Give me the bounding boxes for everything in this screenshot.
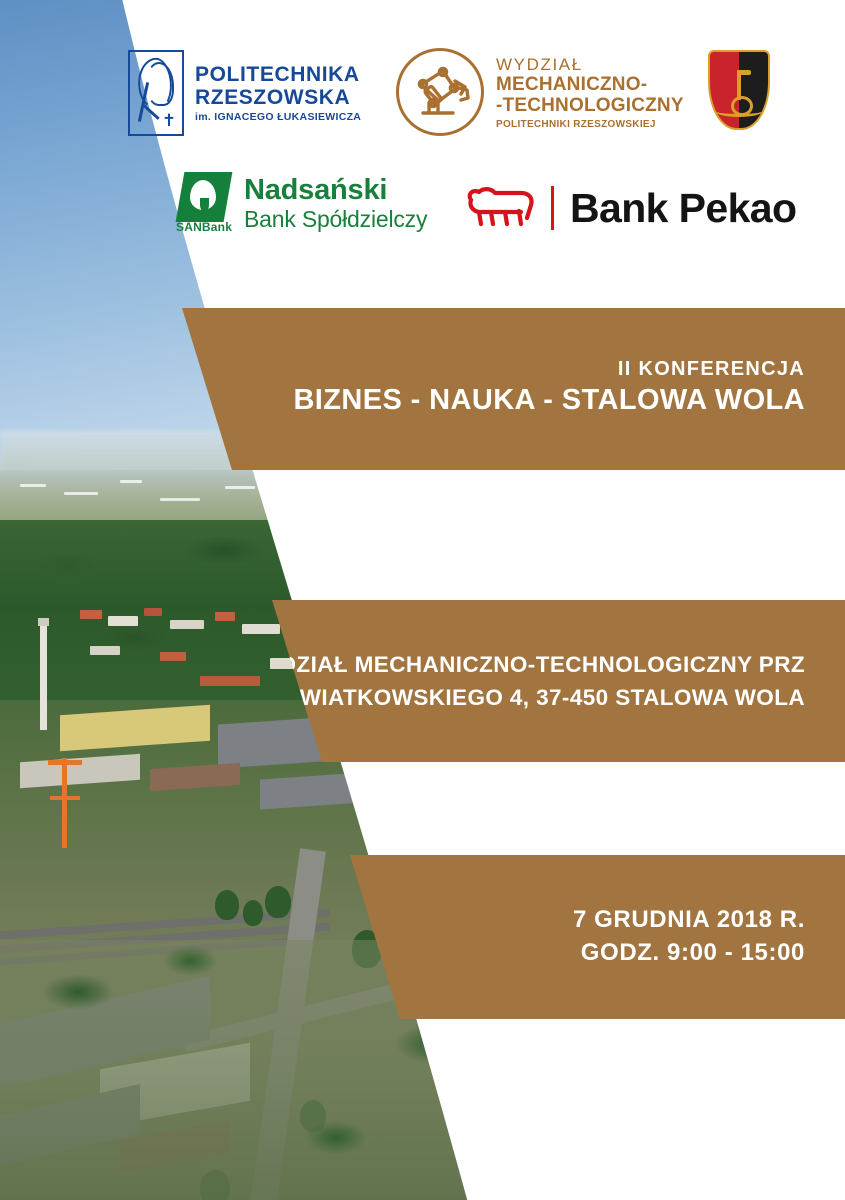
pekao-wordmark: Bank Pekao — [570, 186, 796, 230]
logo-bank-pekao: Bank Pekao — [461, 184, 796, 232]
date-line1: 7 GRUDNIA 2018 R. — [573, 903, 805, 936]
wydzial-line3: -TECHNOLOGICZNY — [496, 95, 684, 116]
wydzial-line2: MECHANICZNO- — [496, 74, 684, 95]
date-line2: GODZ. 9:00 - 15:00 — [573, 936, 805, 969]
politechnika-line2: RZESZOWSKA — [195, 86, 361, 109]
wydzial-line1: WYDZIAŁ — [496, 55, 684, 74]
nadsanski-line2: Bank Spółdzielczy — [244, 206, 427, 232]
nadsanski-line1: Nadsański — [244, 175, 427, 206]
pekao-divider — [551, 186, 554, 230]
sanbank-apple-icon: SANBank — [176, 172, 232, 234]
politechnika-monogram-icon: ✝ — [128, 50, 184, 136]
wydzial-line4: POLITECHNIKI RZESZOWSKIEJ — [496, 119, 684, 130]
robotic-arm-icon — [396, 48, 484, 136]
cross-icon: ✝ — [161, 113, 177, 129]
conference-headline: BIZNES - NAUKA - STALOWA WOLA — [293, 382, 805, 418]
venue-line2: UL. KWIATKOWSKIEGO 4, 37-450 STALOWA WOL… — [239, 681, 805, 714]
bison-icon — [461, 184, 539, 232]
venue-line1: WYDZIAŁ MECHANICZNO-TECHNOLOGICZNY PRZ — [239, 648, 805, 681]
conference-poster: ✝ POLITECHNIKA RZESZOWSKA im. IGNACEGO Ł… — [0, 0, 845, 1200]
sanbank-caption: SANBank — [176, 220, 232, 234]
conference-eyebrow: II KONFERENCJA — [293, 356, 805, 382]
logo-wydzial-mechaniczno-technologiczny: WYDZIAŁ MECHANICZNO- -TECHNOLOGICZNY POL… — [396, 48, 684, 136]
logo-stalowa-wola-shield — [708, 50, 770, 130]
politechnika-line1: POLITECHNIKA — [195, 63, 361, 86]
logo-politechnika-rzeszowska: ✝ POLITECHNIKA RZESZOWSKA im. IGNACEGO Ł… — [128, 50, 361, 136]
politechnika-line3: im. IGNACEGO ŁUKASIEWICZA — [195, 111, 361, 123]
sponsor-logo-row: ✝ POLITECHNIKA RZESZOWSKA im. IGNACEGO Ł… — [0, 0, 845, 270]
logo-nadsanski-bank-spoldzielczy: SANBank Nadsański Bank Spółdzielczy — [176, 172, 427, 234]
shield-icon — [708, 50, 770, 130]
